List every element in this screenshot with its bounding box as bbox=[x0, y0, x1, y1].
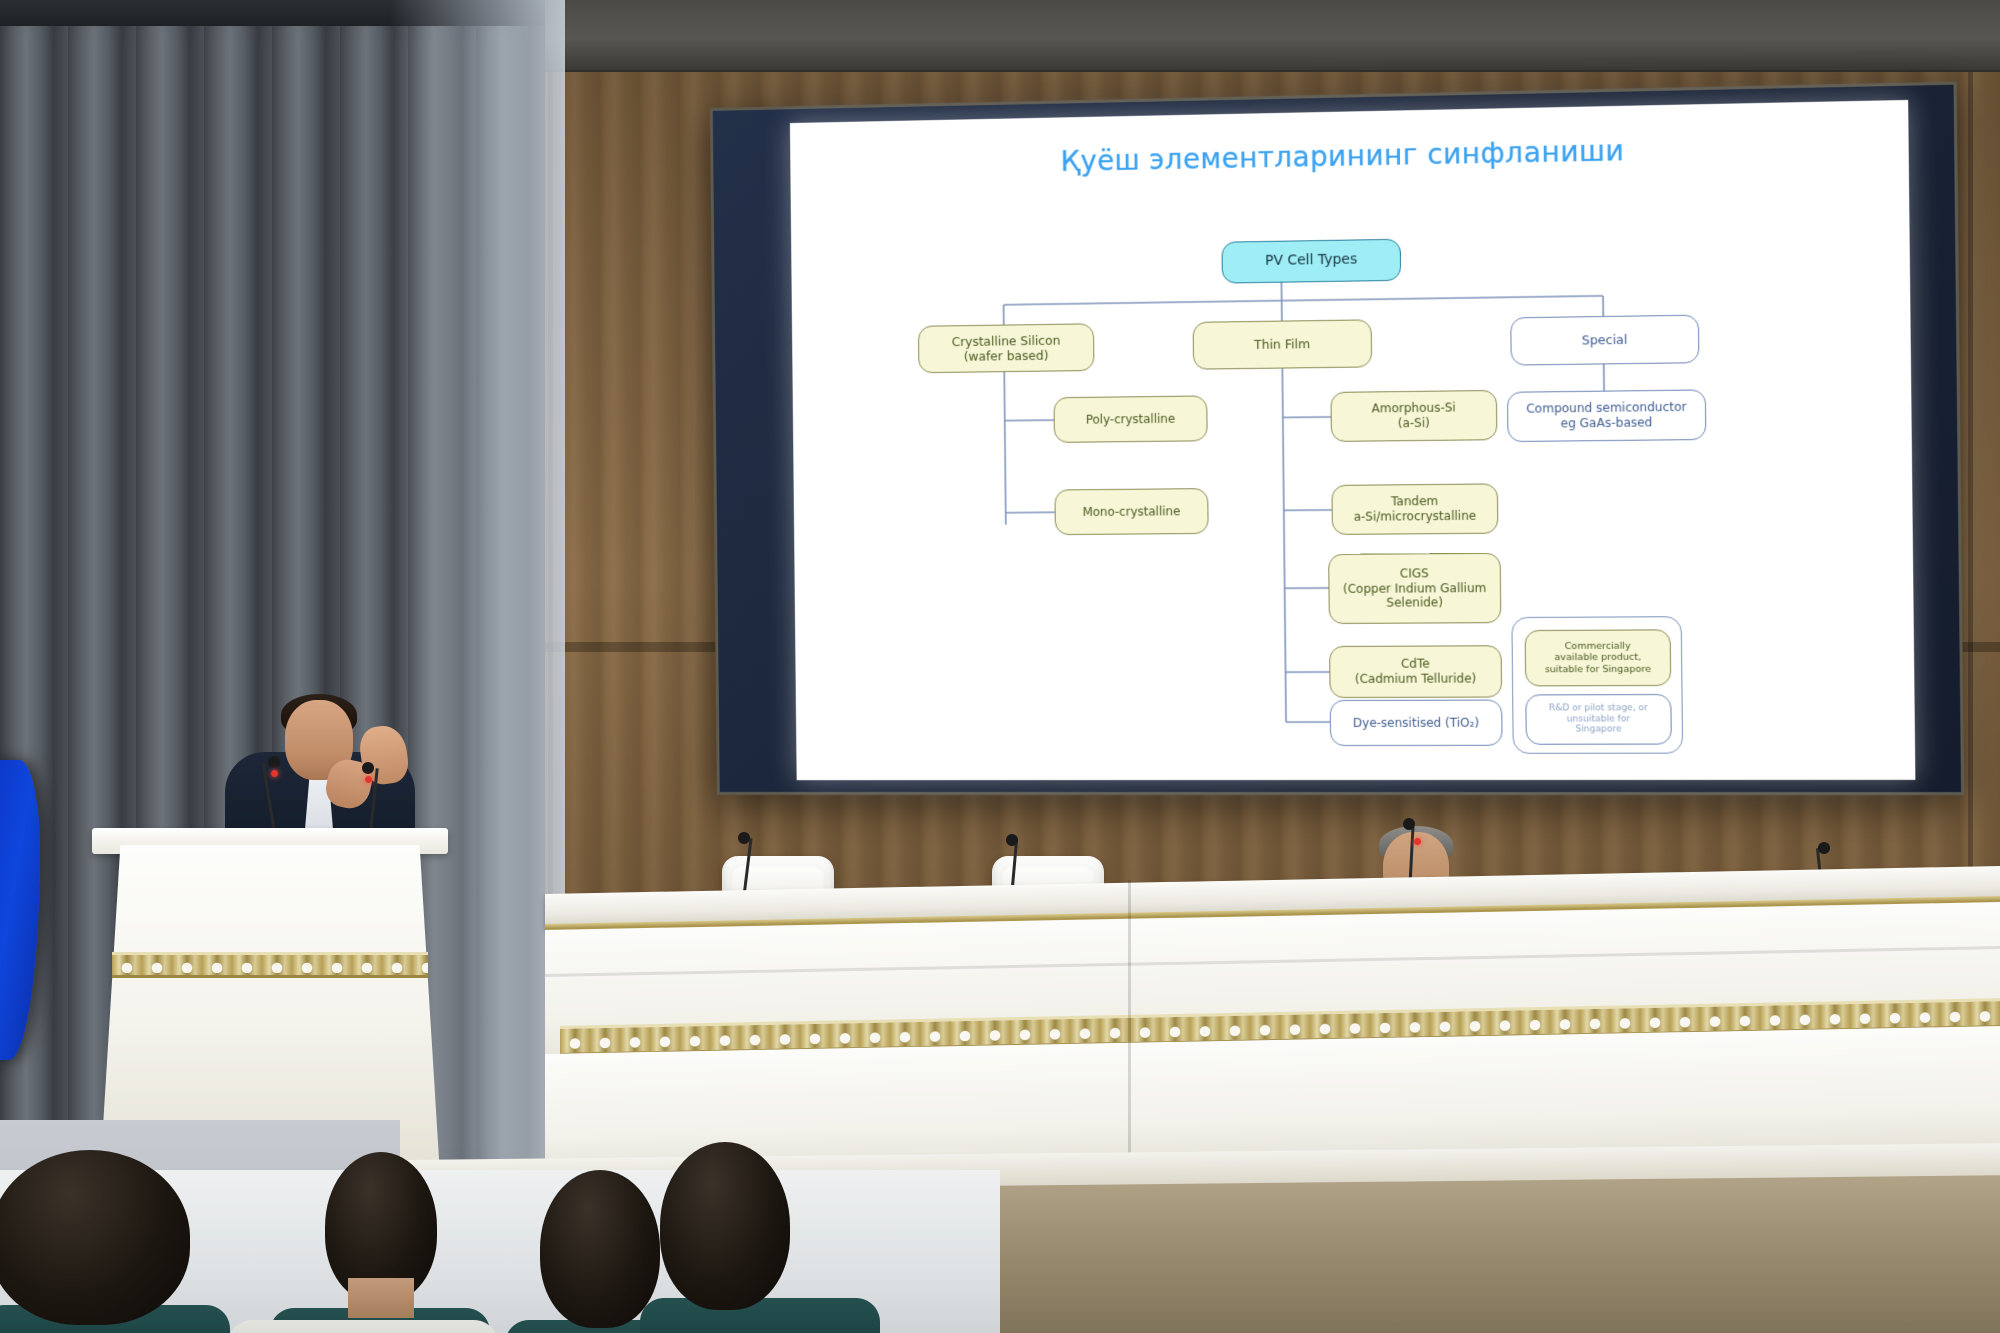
node-poly-crystalline: Poly-crystalline bbox=[1053, 395, 1207, 442]
podium-ornamental-band bbox=[112, 952, 428, 978]
node-label: Dye-sensitised (TiO₂) bbox=[1353, 715, 1479, 730]
legend-label-line2: available product, bbox=[1554, 652, 1641, 664]
node-label-line1: Amorphous-Si bbox=[1372, 401, 1456, 417]
podium-microphone-right-led bbox=[365, 776, 372, 783]
table-microphone-3-head bbox=[1818, 842, 1830, 854]
audience-member-1-head bbox=[0, 1150, 190, 1325]
node-label-line2: (Cadmium Telluride) bbox=[1355, 671, 1477, 686]
legend-label-line3: Singapore bbox=[1575, 725, 1621, 736]
podium-microphone-left-led bbox=[271, 770, 278, 777]
slide-surface: Қуёш элементларининг синфланиши bbox=[790, 100, 1915, 780]
node-label-line2: (a-Si) bbox=[1398, 416, 1430, 431]
projection-screen: Қуёш элементларининг синфланиши bbox=[710, 82, 1964, 796]
legend-label-line1: Commercially bbox=[1565, 640, 1631, 652]
node-mono-crystalline: Mono-crystalline bbox=[1054, 488, 1208, 535]
node-amorphous-si: Amorphous-Si (a-Si) bbox=[1330, 390, 1497, 442]
conference-hall-photo: Қуёш элементларининг синфланиши bbox=[0, 0, 2000, 1333]
legend-label-line3: suitable for Singapore bbox=[1545, 664, 1651, 676]
podium-microphone-left-head bbox=[268, 756, 280, 768]
audience-row bbox=[0, 1130, 2000, 1333]
audience-member-2-neck bbox=[348, 1278, 414, 1318]
node-label-line1: Compound semiconductor bbox=[1526, 400, 1686, 417]
diagram-legend: Commercially available product, suitable… bbox=[1511, 616, 1683, 754]
audience-member-3-shoulders bbox=[228, 1320, 498, 1333]
node-label-line2: (Copper Indium Gallium bbox=[1343, 581, 1486, 597]
officer-microphone-head bbox=[1403, 818, 1415, 830]
legend-item-rnd: R&D or pilot stage, or unsuitable for Si… bbox=[1525, 694, 1672, 745]
legend-label-line2: unsuitable for bbox=[1567, 714, 1630, 725]
audience-member-5-shoulders bbox=[640, 1298, 880, 1333]
node-label-line2: a-Si/microcrystalline bbox=[1354, 509, 1477, 525]
node-crystalline-silicon: Crystalline Silicon (wafer based) bbox=[918, 323, 1095, 373]
node-label: Poly-crystalline bbox=[1086, 411, 1175, 427]
legend-item-commercial: Commercially available product, suitable… bbox=[1525, 629, 1672, 686]
podium-microphone-right-head bbox=[362, 762, 374, 774]
node-special: Special bbox=[1510, 315, 1699, 366]
node-pv-cell-types: PV Cell Types bbox=[1221, 239, 1401, 284]
node-label: PV Cell Types bbox=[1265, 252, 1357, 271]
presenter bbox=[215, 690, 425, 840]
node-cdte: CdTe (Cadmium Telluride) bbox=[1329, 645, 1502, 698]
node-label-line1: Crystalline Silicon bbox=[952, 332, 1061, 349]
legend-label-line1: R&D or pilot stage, or bbox=[1549, 703, 1648, 714]
node-thin-film: Thin Film bbox=[1193, 319, 1373, 369]
node-label-line1: CIGS bbox=[1400, 566, 1429, 581]
node-label-line1: CdTe bbox=[1401, 657, 1430, 672]
officer-microphone-led bbox=[1414, 838, 1421, 845]
audience-member-4-head bbox=[540, 1170, 660, 1328]
node-label-line2: eg GaAs-based bbox=[1561, 415, 1653, 431]
table-microphone-1-head bbox=[738, 832, 750, 844]
table-microphone-2-head bbox=[1006, 834, 1018, 846]
audience-member-5-head bbox=[660, 1142, 790, 1310]
node-cigs: CIGS (Copper Indium Gallium Selenide) bbox=[1328, 553, 1501, 624]
wall-upper-trim bbox=[540, 0, 2000, 72]
node-compound-semiconductor: Compound semiconductor eg GaAs-based bbox=[1507, 389, 1706, 442]
node-label: Special bbox=[1582, 332, 1628, 348]
node-dye-sensitised: Dye-sensitised (TiO₂) bbox=[1330, 700, 1503, 746]
node-label-line3: Selenide) bbox=[1386, 596, 1443, 611]
node-tandem: Tandem a-Si/microcrystalline bbox=[1331, 483, 1498, 535]
node-label: Mono-crystalline bbox=[1083, 504, 1181, 519]
pv-cell-types-diagram: PV Cell Types Crystalline Silicon (wafer… bbox=[790, 100, 1915, 780]
projected-slide: Қуёш элементларининг синфланиши bbox=[790, 100, 1915, 780]
node-label-line2: (wafer based) bbox=[964, 348, 1049, 364]
node-label: Thin Film bbox=[1254, 337, 1310, 353]
node-label-line1: Tandem bbox=[1391, 494, 1438, 509]
